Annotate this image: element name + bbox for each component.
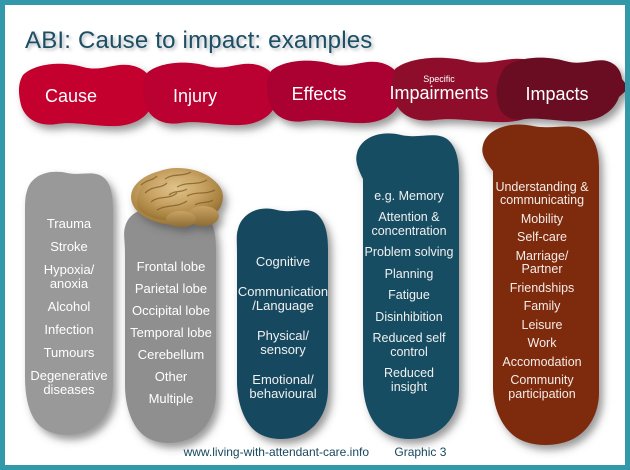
column-item: Infection [44,323,93,337]
column-item: Emotional/ behavioural [249,373,316,401]
column-item: Disinhibition [375,311,442,325]
column-impacts: Understanding & communicating Mobility S… [483,145,601,437]
column-item: Leisure [522,319,563,333]
column-item: Problem solving [365,246,454,260]
column-item: Communication /Language [238,285,328,313]
column-item: Temporal lobe [130,326,212,340]
column-item: Hypoxia/ anoxia [44,263,95,291]
column-item: Understanding & communicating [495,181,588,208]
column-item: Other [155,370,188,384]
column-item: Friendships [510,282,575,296]
column-effects: Cognitive Communication /Language Physic… [235,227,331,429]
source-url[interactable]: www.living-with-attendant-care.info [184,445,369,459]
footer: www.living-with-attendant-care.info Grap… [5,445,625,459]
column-item: Multiple [149,392,194,406]
column-injury: Frontal lobe Parietal lobe Occipital lob… [123,229,219,437]
column-item: Alcohol [48,300,91,314]
flow-arrow-impacts [496,58,625,122]
column-item: Self-care [517,231,567,245]
column-item: Reduced insight [384,367,434,394]
graphic-id: Graphic 3 [394,445,446,459]
column-item: Tumours [44,346,95,360]
column-item: Reduced self control [373,332,446,359]
column-item: Planning [385,268,434,282]
column-item: Attention & concentration [371,211,446,238]
column-item: Cognitive [256,255,310,269]
column-item: Fatigue [388,289,430,303]
column-item: Parietal lobe [135,282,207,296]
column-cause: Trauma Stroke Hypoxia/ anoxia Alcohol In… [23,183,115,431]
column-item: e.g. Memory [374,190,443,204]
column-item: Cerebellum [138,348,204,362]
column-item: Community participation [508,374,575,401]
column-item: Degenerative diseases [30,369,107,397]
column-item: Marriage/ Partner [516,250,569,277]
column-item: Family [524,300,561,314]
column-item: Accomodation [502,356,581,370]
column-item: Mobility [521,213,563,227]
column-item: Trauma [47,217,91,231]
flow-arrow-band [19,58,625,126]
column-item: Frontal lobe [137,260,206,274]
column-item: Occipital lobe [132,304,210,318]
column-item: Physical/ sensory [257,329,309,357]
column-item: Stroke [50,240,88,254]
column-specific-impairments: e.g. Memory Attention & concentration Pr… [357,151,461,433]
page-title: ABI: Cause to impact: examples [25,27,372,55]
slide-canvas: ABI: Cause to impact: examples Cause Inj… [0,0,630,470]
column-item: Work [528,337,557,351]
